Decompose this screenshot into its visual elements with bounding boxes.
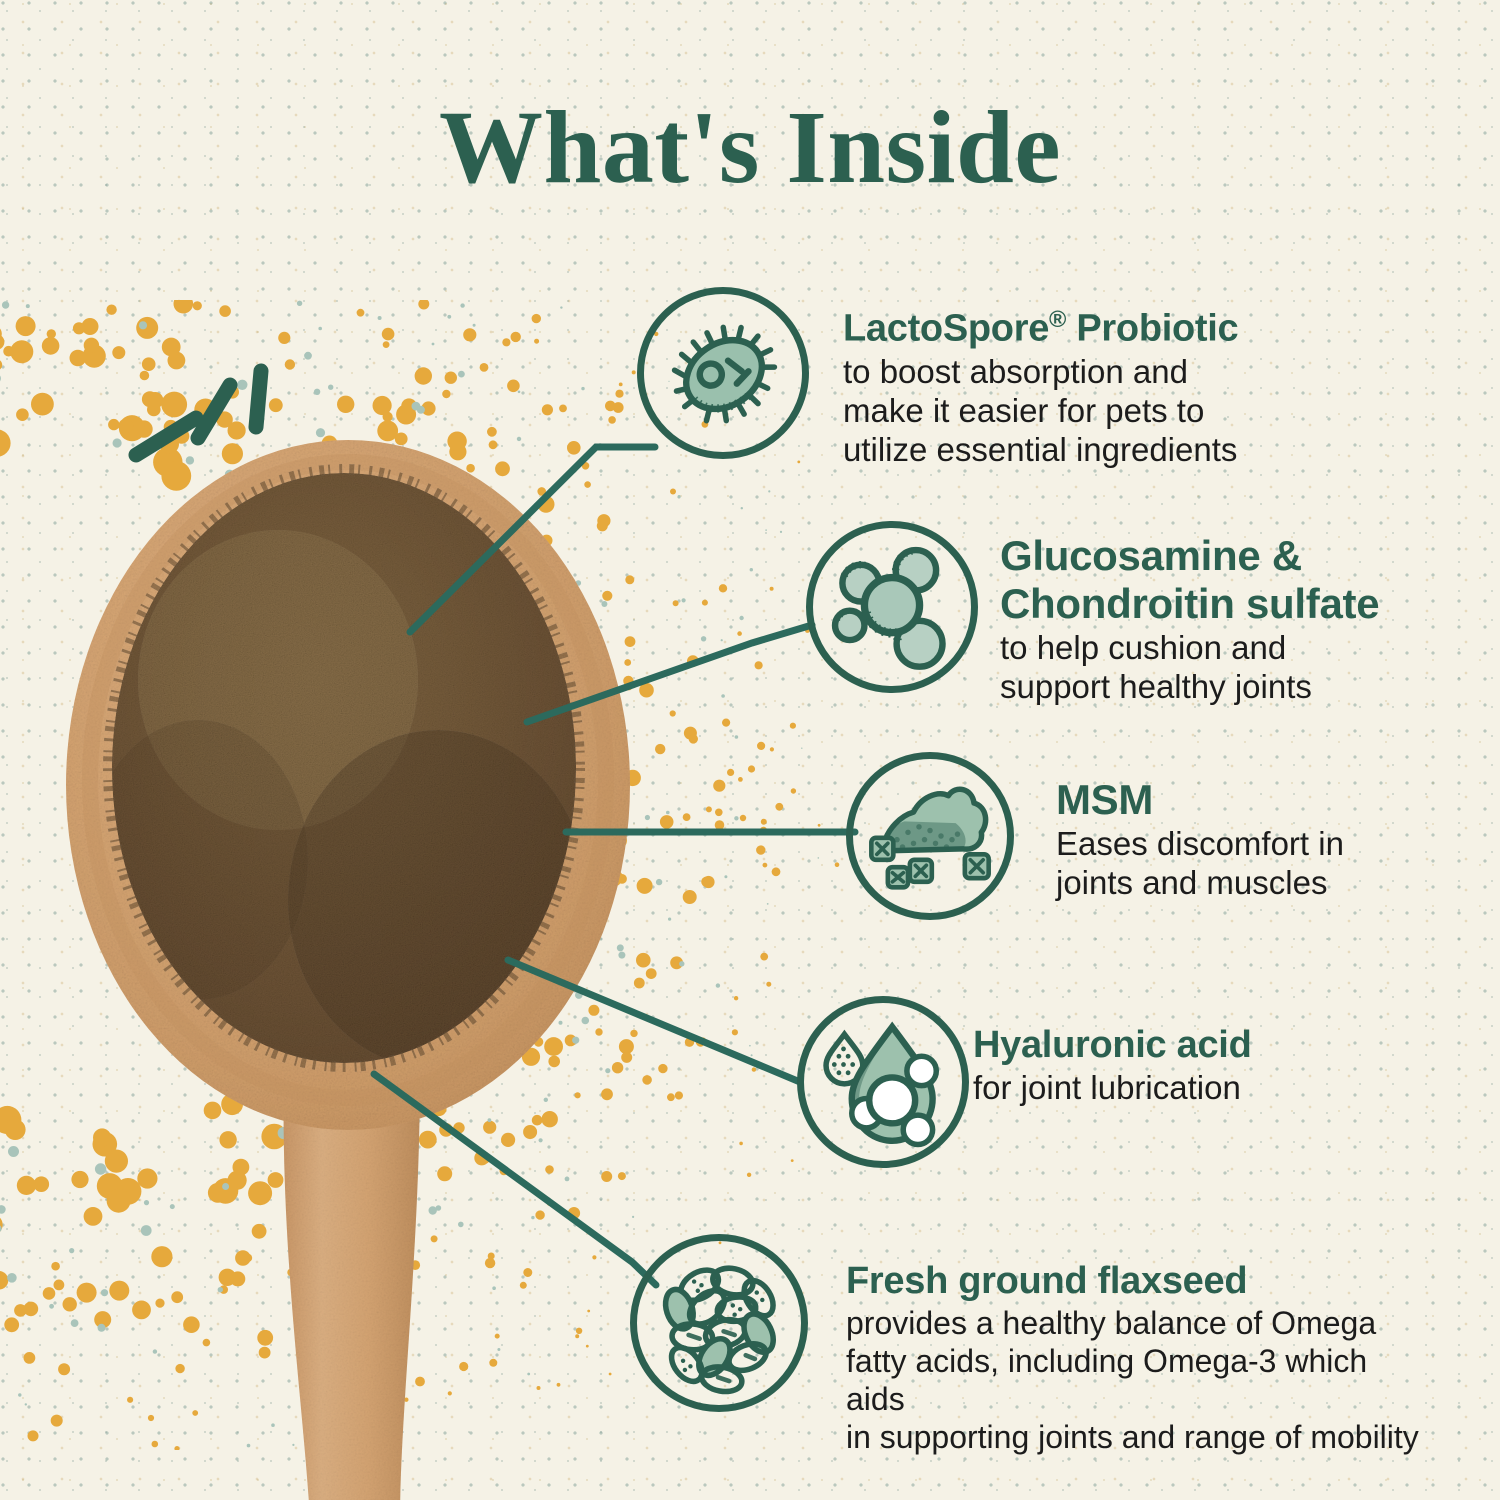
callout-body: Eases discomfort in joints and muscles	[1056, 824, 1386, 902]
page-title: What's Inside	[0, 96, 1500, 200]
callout-heading: Fresh ground flaxseed	[846, 1258, 1426, 1304]
registered-mark: ®	[1049, 306, 1066, 332]
callout-heading: Hyaluronic acid	[973, 1022, 1333, 1068]
powder-crystals-icon	[846, 752, 1014, 920]
callout-heading: Glucosamine & Chondroitin sulfate	[1000, 532, 1420, 628]
callout-body: for joint lubrication	[973, 1068, 1333, 1107]
molecule-icon	[806, 521, 978, 693]
callout-heading: LactoSpore® Probiotic	[843, 296, 1313, 352]
callout-body: to boost absorption and make it easier f…	[843, 352, 1313, 469]
water-droplet-molecule-icon	[797, 996, 969, 1168]
flaxseed-cluster-icon	[630, 1234, 808, 1412]
callout-body: to help cushion and support healthy join…	[1000, 628, 1420, 706]
callout-body: provides a healthy balance of Omega fatt…	[846, 1304, 1426, 1456]
infographic-canvas: LactoSpore® Probiotic to boost absorptio…	[0, 0, 1500, 1500]
bacteria-icon	[637, 287, 809, 459]
callout-heading: MSM	[1056, 776, 1386, 824]
